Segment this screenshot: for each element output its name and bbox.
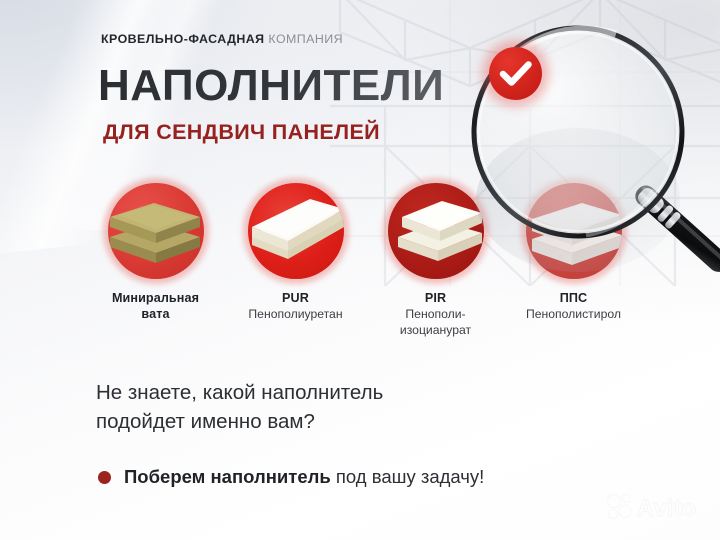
company-eyebrow: КРОВЕЛЬНО-ФАСАДНАЯ КОМПАНИЯ <box>101 32 343 46</box>
mineral-wool-slabs-icon <box>108 183 204 279</box>
cta-row[interactable]: Поберем наполнитель под вашу задачу! <box>98 465 484 489</box>
pur-panel-icon <box>248 183 344 279</box>
cta-rest-text: под вашу задачу! <box>331 466 485 487</box>
disc-face <box>526 183 622 279</box>
pir-panel-icon <box>388 183 484 279</box>
disc-face <box>108 183 204 279</box>
product-list: Миниральная вата <box>88 183 648 353</box>
product-name: ППС <box>506 290 641 306</box>
product-subtitle: Пенополистирол <box>506 307 641 323</box>
checkmark-icon <box>489 47 542 100</box>
eyebrow-light-text: КОМПАНИЯ <box>268 32 343 46</box>
product-subtitle: Пенополиуретан <box>228 307 363 323</box>
product-item-pur[interactable]: PUR Пенополиуретан <box>228 183 363 323</box>
svg-text:Avito: Avito <box>651 517 685 533</box>
question-line-1: Не знаете, какой наполнитель <box>96 381 383 404</box>
product-disc <box>248 183 344 279</box>
product-disc <box>526 183 622 279</box>
product-disc <box>388 183 484 279</box>
poster-canvas: КРОВЕЛЬНО-ФАСАДНАЯ КОМПАНИЯ НАПОЛНИТЕЛИ … <box>0 0 720 540</box>
disc-face <box>248 183 344 279</box>
bullet-dot-icon <box>98 471 111 484</box>
product-item-pir[interactable]: PIR Пенополи- изоцианурат <box>368 183 503 338</box>
svg-text:Avito: Avito <box>637 495 696 522</box>
check-badge-icon <box>489 47 542 100</box>
avito-watermark: Avito <box>604 492 706 522</box>
product-subtitle-line1: Пенополи- <box>405 307 465 321</box>
page-subtitle: ДЛЯ СЕНДВИЧ ПАНЕЛЕЙ <box>103 120 380 144</box>
product-name: PUR <box>228 290 363 306</box>
eps-panel-icon <box>526 183 622 279</box>
eyebrow-bold-text: КРОВЕЛЬНО-ФАСАДНАЯ <box>101 32 265 46</box>
question-text: Не знаете, какой наполнитель подойдет им… <box>96 378 383 436</box>
product-name-line1: Миниральная <box>112 291 199 305</box>
cta-text: Поберем наполнитель под вашу задачу! <box>124 465 484 489</box>
product-subtitle: Пенополи- изоцианурат <box>368 307 503 338</box>
product-item-eps[interactable]: ППС Пенополистирол <box>506 183 641 323</box>
disc-face <box>388 183 484 279</box>
avito-watermark-secondary: Avito <box>630 515 698 533</box>
product-name: PIR <box>368 290 503 306</box>
cta-bold-text: Поберем наполнитель <box>124 466 331 487</box>
product-name-line2: вата <box>141 307 169 321</box>
page-title: НАПОЛНИТЕЛИ <box>98 62 444 110</box>
product-name: Миниральная вата <box>88 290 223 322</box>
product-item-mineral-wool[interactable]: Миниральная вата <box>88 183 223 322</box>
question-line-2: подойдет именно вам? <box>96 410 315 433</box>
product-disc <box>108 183 204 279</box>
product-subtitle-line2: изоцианурат <box>400 323 471 337</box>
